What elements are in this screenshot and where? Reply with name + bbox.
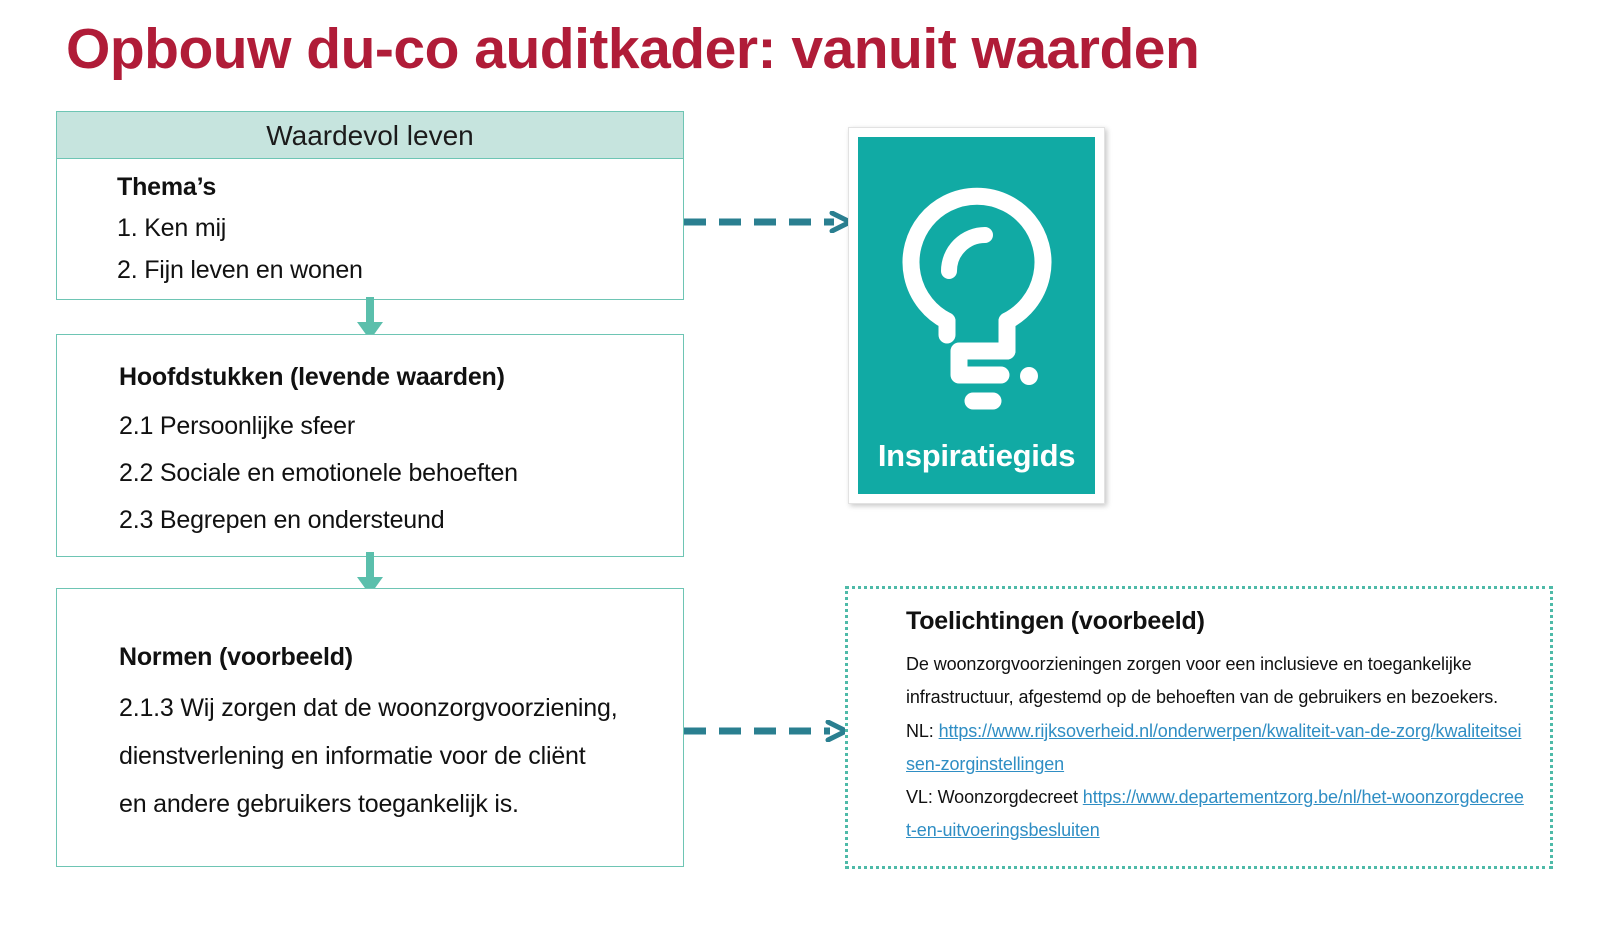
list-item: 1. Ken mij <box>117 209 683 248</box>
dashed-right-arrow-icon <box>684 211 856 233</box>
box-header-waardevol-leven: Waardevol leven <box>57 112 683 159</box>
list-item: 2. Fijn leven en wonen <box>117 251 683 290</box>
flow-box-hoofdstukken: Hoofdstukken (levende waarden) 2.1 Perso… <box>56 334 684 557</box>
box-title-hoofdstukken: Hoofdstukken (levende waarden) <box>119 363 683 392</box>
toelichtingen-nl-row: NL: https://www.rijksoverheid.nl/onderwe… <box>906 715 1528 782</box>
toelichtingen-title: Toelichtingen (voorbeeld) <box>906 607 1528 636</box>
slide-canvas: Opbouw du-co auditkader: vanuit waarden … <box>0 0 1600 927</box>
box-body-hoofdstukken: Hoofdstukken (levende waarden) 2.1 Perso… <box>57 335 683 535</box>
toelichtingen-box: Toelichtingen (voorbeeld) De woonzorgvoo… <box>845 586 1553 869</box>
flow-box-normen: Normen (voorbeeld) 2.1.3 Wij zorgen dat … <box>56 588 684 867</box>
inspiratiegids-card[interactable]: Inspiratiegids <box>848 127 1105 504</box>
box-body-normen: Normen (voorbeeld) 2.1.3 Wij zorgen dat … <box>57 589 683 819</box>
lightbulb-icon <box>889 175 1065 428</box>
page-title: Opbouw du-co auditkader: vanuit waarden <box>66 18 1366 81</box>
box-title-normen: Normen (voorbeeld) <box>119 643 683 672</box>
box-body-themas: Thema’s 1. Ken mij 2. Fijn leven en wone… <box>57 159 683 290</box>
list-item: 2.3 Begrepen en ondersteund <box>119 506 683 535</box>
list-item: dienstverlening en informatie voor de cl… <box>119 742 683 771</box>
list-item: 2.1.3 Wij zorgen dat de woonzorgvoorzien… <box>119 694 683 723</box>
toelichtingen-vl-row: VL: Woonzorgdecreet https://www.departem… <box>906 781 1528 848</box>
list-item: en andere gebruikers toegankelijk is. <box>119 790 683 819</box>
toelichtingen-nl-prefix: NL: <box>906 721 939 741</box>
toelichtingen-vl-prefix: VL: Woonzorgdecreet <box>906 787 1083 807</box>
box-title-themas: Thema’s <box>117 173 683 202</box>
toelichtingen-paragraph: De woonzorgvoorzieningen zorgen voor een… <box>906 648 1528 715</box>
inspiratiegids-tile: Inspiratiegids <box>858 137 1095 494</box>
inspiratiegids-label: Inspiratiegids <box>858 438 1095 474</box>
dashed-right-arrow-icon <box>684 720 852 742</box>
list-item: 2.1 Persoonlijke sfeer <box>119 412 683 441</box>
toelichtingen-nl-link[interactable]: https://www.rijksoverheid.nl/onderwerpen… <box>906 721 1521 774</box>
flow-box-themas: Waardevol leven Thema’s 1. Ken mij 2. Fi… <box>56 111 684 300</box>
list-item: 2.2 Sociale en emotionele behoeften <box>119 459 683 488</box>
